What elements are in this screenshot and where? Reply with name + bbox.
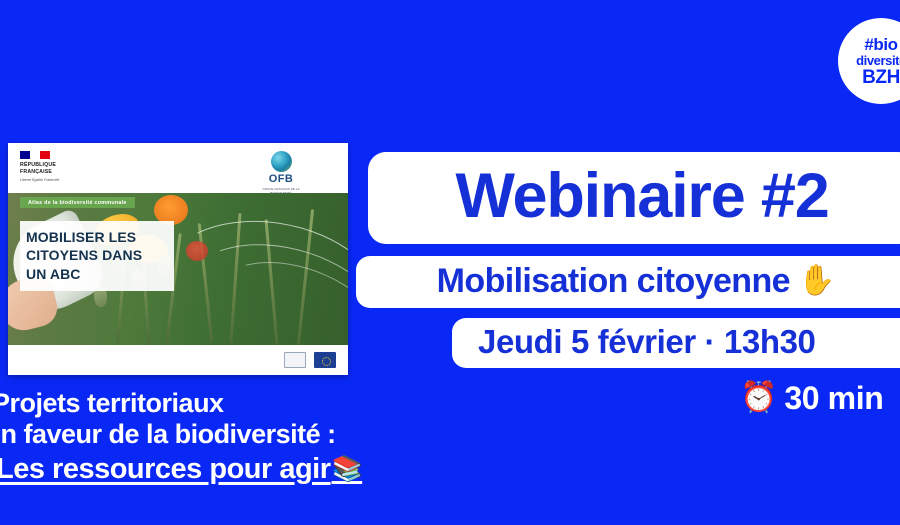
webinar-duration: ⏰ 30 min (740, 382, 883, 414)
series-heading-line-1: Projets territoriaux (0, 388, 400, 419)
document-cover-footer (8, 345, 348, 375)
books-icon: 📚 (332, 455, 363, 484)
webinar-subtitle-pill: Mobilisation citoyenne ✋ (356, 256, 900, 308)
document-cover-headline: MOBILISER LES CITOYENS DANS UN ABC (20, 221, 174, 291)
alarm-clock-icon: ⏰ (740, 383, 777, 413)
webinar-subtitle: Mobilisation citoyenne (437, 264, 790, 298)
republique-francaise-motto: Liberté Égalité Fraternité (20, 178, 74, 183)
ofb-logo: OFB OFFICE FRANÇAIS DE LA BIODIVERSITÉ (258, 151, 304, 195)
brand-badge-line-2: diversité (856, 54, 900, 67)
series-heading-line-3: Les ressources pour agir📚 (0, 453, 362, 486)
webinar-duration-label: 30 min (784, 382, 883, 414)
webinar-title-pill: Webinaire #2 (368, 152, 900, 244)
webinar-date-pill: Jeudi 5 février · 13h30 (452, 318, 900, 368)
series-heading: Projets territoriaux en faveur de la bio… (0, 388, 400, 486)
ofb-logo-label: OFB (258, 174, 304, 185)
webinar-promo-poster: #bio diversité BZH RÉPUBLIQUE FRANÇAISE … (0, 0, 900, 525)
brand-badge-biodiversite-bzh: #bio diversité BZH (838, 18, 900, 104)
brand-badge-line-3: BZH (862, 68, 900, 87)
webinar-datetime: Jeudi 5 février · 13h30 (478, 325, 815, 358)
ofb-globe-icon (271, 151, 292, 172)
french-flag-icon (20, 151, 50, 159)
partner-logo-icon (284, 352, 306, 368)
document-cover-eyebrow: Atlas de la biodiversité communale (20, 197, 135, 208)
page-title: Webinaire #2 (455, 165, 828, 228)
raised-hand-icon: ✋ (798, 266, 835, 296)
european-union-logo-icon (314, 352, 336, 368)
brand-badge-line-1: #bio (864, 36, 897, 53)
republique-francaise-logo: RÉPUBLIQUE FRANÇAISE Liberté Égalité Fra… (20, 151, 74, 183)
republique-francaise-label: RÉPUBLIQUE FRANÇAISE (20, 162, 74, 175)
document-cover-thumbnail: RÉPUBLIQUE FRANÇAISE Liberté Égalité Fra… (8, 143, 348, 375)
series-heading-line-3-label: Les ressources pour agir (0, 453, 331, 486)
series-heading-line-2: en faveur de la biodiversité : (0, 419, 400, 450)
